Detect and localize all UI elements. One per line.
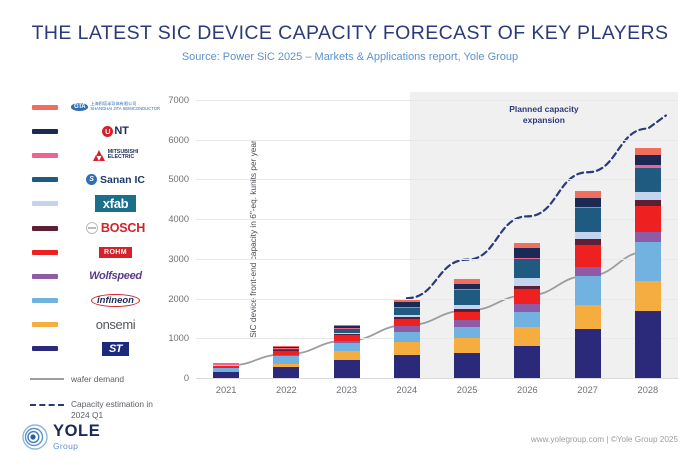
bar-segment-onsemi <box>334 351 360 360</box>
bar-segment-sanan-ic <box>394 308 420 315</box>
bar-stack <box>514 243 540 378</box>
bar-column-2022[interactable] <box>273 100 299 378</box>
bar-stack <box>454 279 480 378</box>
legend-brand-logo-icon: BOSCH <box>58 216 173 240</box>
bar-column-2021[interactable] <box>213 100 239 378</box>
bar-segment-unt <box>575 198 601 207</box>
x-axis-line <box>196 378 678 379</box>
bar-segment-stmicroelectronics <box>334 360 360 378</box>
bar-segment-stmicroelectronics <box>394 355 420 378</box>
legend-item-bosch[interactable]: BOSCH <box>18 216 173 240</box>
bar-segment-onsemi <box>575 305 601 330</box>
bar-segment-onsemi <box>514 327 540 346</box>
bar-column-2026[interactable] <box>514 100 540 378</box>
bar-segment-sanan-ic <box>454 290 480 305</box>
bar-segment-infineon <box>334 343 360 351</box>
bar-segment-gta <box>575 191 601 198</box>
bar-segment-sanan-ic <box>514 259 540 278</box>
bar-segment-infineon <box>454 327 480 338</box>
bar-column-2028[interactable] <box>635 100 661 378</box>
legend-item-wolfspeed[interactable]: Wolfspeed <box>18 264 173 288</box>
gridline <box>196 219 678 220</box>
bar-segment-gta <box>635 148 661 155</box>
yole-spiral-icon <box>22 424 48 450</box>
bar-segment-xfab <box>635 192 661 200</box>
legend-brand-logo-icon: SSanan IC <box>58 168 173 192</box>
bar-segment-infineon <box>514 312 540 327</box>
legend-item-stmicroelectronics[interactable]: ST <box>18 337 173 361</box>
legend-item-wafer-demand[interactable]: wafer demand <box>18 367 173 391</box>
x-axis-tick-2026: 2026 <box>497 385 557 395</box>
bar-segment-wolfspeed <box>514 304 540 312</box>
bar-segment-onsemi <box>394 342 420 355</box>
bar-segment-stmicroelectronics <box>273 367 299 378</box>
legend-swatch-icon <box>32 322 58 327</box>
bar-column-2025[interactable] <box>454 100 480 378</box>
yole-logo-sub: Group <box>53 441 100 451</box>
legend-swatch-icon <box>32 274 58 279</box>
bar-stack <box>213 363 239 378</box>
bar-segment-stmicroelectronics <box>635 311 661 378</box>
y-axis-tick: 7000 <box>168 95 189 105</box>
bar-segment-stmicroelectronics <box>454 353 480 378</box>
legend-swatch-icon <box>32 346 58 351</box>
solid-line-icon <box>30 378 64 380</box>
legend-brand-logo-icon: xfab <box>58 192 173 216</box>
bar-segment-bosch <box>635 200 661 207</box>
bar-stack <box>394 300 420 378</box>
legend-brand-logo-icon: infineon <box>58 289 173 313</box>
bar-segment-rohm <box>575 245 601 267</box>
gridline <box>196 299 678 300</box>
page-title: THE LATEST SIC DEVICE CAPACITY FORECAST … <box>0 22 700 45</box>
legend-item-xfab[interactable]: xfab <box>18 192 173 216</box>
legend-item-infineon[interactable]: infineon <box>18 289 173 313</box>
bar-segment-rohm <box>454 312 480 320</box>
bar-segment-onsemi <box>454 338 480 353</box>
yole-logo-name: YOLE <box>53 423 100 440</box>
bar-segment-wolfspeed <box>635 232 661 242</box>
bar-segment-xfab <box>514 278 540 286</box>
y-axis-label: SiC device front-end capacity in 6"-eq. … <box>248 134 258 344</box>
legend-brand-logo-icon: GTA上海积塔半导体有限公司SHANGHAI JITA SEMICONDUCTO… <box>58 95 173 119</box>
legend-swatch-icon <box>32 226 58 231</box>
legend-swatch-icon <box>32 153 58 158</box>
legend-item-gta[interactable]: GTA上海积塔半导体有限公司SHANGHAI JITA SEMICONDUCTO… <box>18 95 173 119</box>
legend-swatch-icon <box>32 129 58 134</box>
bar-segment-stmicroelectronics <box>213 372 239 378</box>
x-axis-tick-2022: 2022 <box>256 385 316 395</box>
bar-segment-rohm <box>514 289 540 304</box>
bar-segment-wolfspeed <box>394 326 420 333</box>
bar-column-2027[interactable] <box>575 100 601 378</box>
gridline <box>196 179 678 180</box>
bar-segment-infineon <box>394 332 420 342</box>
y-axis-tick: 3000 <box>168 254 189 264</box>
y-axis-tick: 5000 <box>168 174 189 184</box>
bar-segment-xfab <box>575 232 601 239</box>
legend-item-mitsubishi-electric[interactable]: MITSUBISHIELECTRIC <box>18 143 173 167</box>
legend-brand-logo-icon: Wolfspeed <box>58 264 173 288</box>
legend-swatch-icon <box>32 201 58 206</box>
gridline <box>196 100 678 101</box>
legend-swatch-icon <box>32 298 58 303</box>
y-axis-tick: 4000 <box>168 214 189 224</box>
chart-legend: GTA上海积塔半导体有限公司SHANGHAI JITA SEMICONDUCTO… <box>18 95 173 421</box>
dashed-line-icon <box>30 404 64 406</box>
x-axis-tick-2027: 2027 <box>558 385 618 395</box>
bar-segment-infineon <box>635 242 661 281</box>
legend-brand-logo-icon: ST <box>58 337 173 361</box>
bar-segment-rohm <box>635 206 661 231</box>
gridline <box>196 140 678 141</box>
x-axis-tick-2024: 2024 <box>377 385 437 395</box>
legend-swatch-icon <box>32 105 58 110</box>
bar-segment-wolfspeed <box>575 267 601 276</box>
bar-segment-infineon <box>575 276 601 305</box>
legend-wafer-demand-label: wafer demand <box>71 374 124 384</box>
legend-item-sanan-ic[interactable]: SSanan IC <box>18 168 173 192</box>
bar-segment-stmicroelectronics <box>514 346 540 378</box>
bar-column-2024[interactable] <box>394 100 420 378</box>
plot-area: SiC device front-end capacity in 6"-eq. … <box>196 100 678 378</box>
legend-item-onsemi[interactable]: onsemi <box>18 313 173 337</box>
x-axis-tick-2023: 2023 <box>317 385 377 395</box>
legend-brand-logo-icon: MITSUBISHIELECTRIC <box>58 143 173 167</box>
legend-brand-logo-icon: onsemi <box>58 313 173 337</box>
legend-brand-logo-icon: UNT <box>58 119 173 143</box>
bar-column-2023[interactable] <box>334 100 360 378</box>
legend-brand-logo-icon: ROHM <box>58 240 173 264</box>
bar-segment-stmicroelectronics <box>575 329 601 378</box>
x-axis-tick-2028: 2028 <box>618 385 678 395</box>
legend-swatch-icon <box>32 250 58 255</box>
legend-swatch-icon <box>32 177 58 182</box>
x-axis-tick-2025: 2025 <box>437 385 497 395</box>
bar-segment-sanan-ic <box>635 168 661 192</box>
bar-stack <box>575 191 601 378</box>
page-footer: YOLE Group www.yolegroup.com | ©Yole Gro… <box>0 413 700 469</box>
chart-header: THE LATEST SIC DEVICE CAPACITY FORECAST … <box>0 22 700 63</box>
bar-segment-sanan-ic <box>575 208 601 231</box>
y-axis-tick: 6000 <box>168 135 189 145</box>
bar-stack <box>334 325 360 378</box>
y-axis-tick: 2000 <box>168 294 189 304</box>
yole-logo: YOLE Group <box>22 423 100 451</box>
gridline <box>196 338 678 339</box>
y-axis-tick: 1000 <box>168 333 189 343</box>
bar-segment-wolfspeed <box>454 320 480 328</box>
bar-stack <box>635 148 661 378</box>
footer-copyright: www.yolegroup.com | ©Yole Group 2025 <box>531 435 678 444</box>
x-axis-tick-2021: 2021 <box>196 385 256 395</box>
chart-subtitle: Source: Power SiC 2025 – Markets & Appli… <box>0 51 700 63</box>
bar-segment-onsemi <box>635 281 661 312</box>
y-axis-tick: 0 <box>184 373 189 383</box>
legend-item-rohm[interactable]: ROHM <box>18 240 173 264</box>
bar-stack <box>273 346 299 378</box>
gridline <box>196 259 678 260</box>
bar-segment-unt <box>635 155 661 165</box>
bar-segment-infineon <box>273 356 299 364</box>
bar-segment-unt <box>514 248 540 258</box>
legend-item-unt[interactable]: UNT <box>18 119 173 143</box>
